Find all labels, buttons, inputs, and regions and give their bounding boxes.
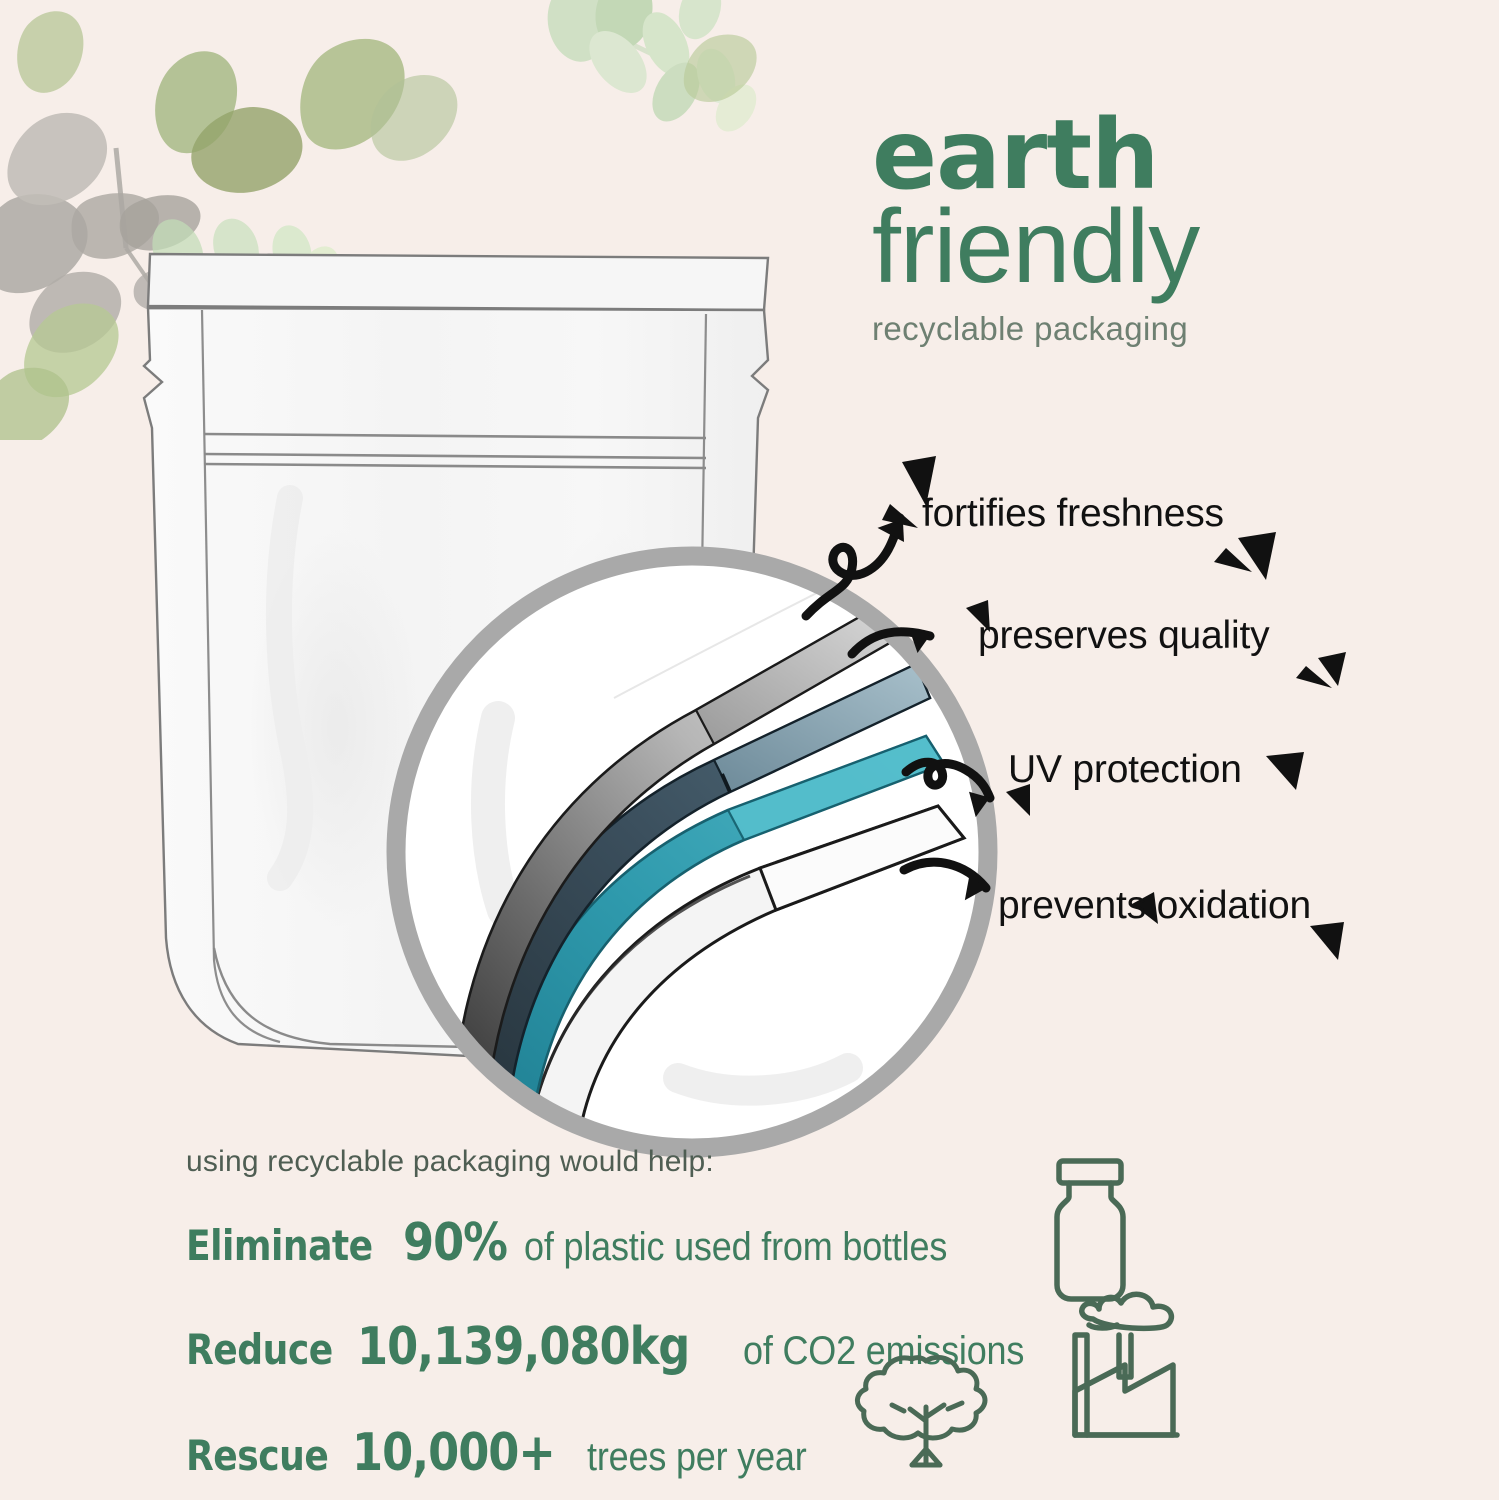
feature-label-uv-protection: UV protection [1008,748,1242,792]
feature-label-fortifies-freshness: fortifies freshness [922,492,1224,536]
stat-tail: of plastic used from bottles [524,1225,947,1270]
stat-tail: trees per year [587,1435,807,1480]
feature-label-preserves-quality: preserves quality [978,614,1269,658]
bag-top-seal [148,254,768,310]
headline-line-1: earth [872,110,1472,200]
stat-value: 90% [403,1213,507,1273]
headline-line-2: friendly [872,194,1472,300]
headline-block: earth friendly recyclable packaging [872,110,1472,348]
factory-smoke-icon [1075,1294,1177,1435]
tree-icon [852,1345,1002,1485]
stat-verb: Reduce [186,1325,333,1374]
stat-icons [1035,1145,1265,1465]
headline-subtitle: recyclable packaging [872,310,1472,348]
stat-verb: Rescue [186,1431,328,1480]
infographic-canvas: earth friendly recyclable packaging fort… [0,0,1499,1500]
stat-value: 10,000+ [352,1423,555,1483]
magnified-film-layers [378,538,1006,1166]
feature-label-prevents-oxidation: prevents oxidation [998,884,1311,928]
stat-verb: Eliminate [186,1221,373,1270]
stat-value: 10,139,080kg [357,1317,689,1377]
bottle-icon [1057,1161,1123,1299]
